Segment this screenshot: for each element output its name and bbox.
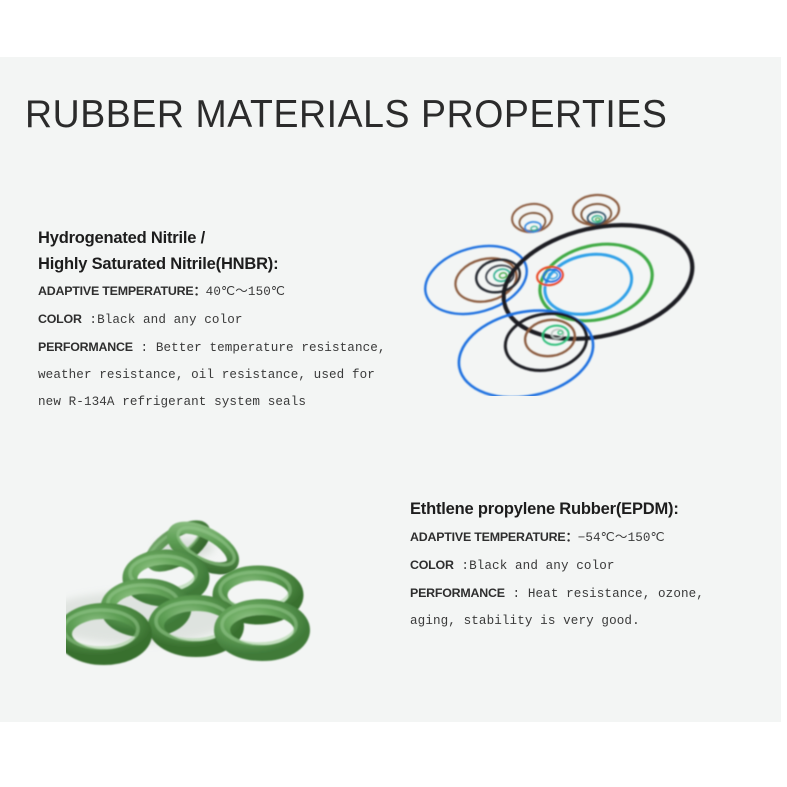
material-block-hnbr: Hydrogenated Nitrile / Highly Saturated … <box>38 226 386 416</box>
epdm-temperature-value: −54℃～150℃ <box>578 531 665 545</box>
epdm-color-value: :Black and any color <box>454 559 615 573</box>
epdm-performance-label: PERFORMANCE <box>410 586 505 600</box>
epdm-row-performance: PERFORMANCE : Heat resistance, ozone, <box>410 580 704 608</box>
epdm-row-temperature: ADAPTIVE TEMPERATURE：−54℃～150℃ <box>410 524 704 552</box>
hnbr-heading-line1: Hydrogenated Nitrile / <box>38 226 386 250</box>
hnbr-heading-line2: Highly Saturated Nitrile(HNBR): <box>38 252 386 276</box>
epdm-color-label: COLOR <box>410 558 454 572</box>
material-block-epdm: Ethtlene propylene Rubber(EPDM): ADAPTIV… <box>410 497 704 635</box>
hnbr-color-label: COLOR <box>38 312 82 326</box>
hnbr-performance-value: : Better temperature resistance, <box>133 341 386 355</box>
hnbr-temperature-value: 40℃～150℃ <box>206 285 285 299</box>
hnbr-performance-label: PERFORMANCE <box>38 340 133 354</box>
green-o-rings-photo <box>66 468 326 673</box>
page-root: RUBBER MATERIALS PROPERTIES Hydrogenated… <box>0 0 787 787</box>
hnbr-row-performance: PERFORMANCE : Better temperature resista… <box>38 334 386 362</box>
epdm-row-color: COLOR :Black and any color <box>410 552 704 580</box>
hnbr-temperature-label: ADAPTIVE TEMPERATURE： <box>38 284 206 298</box>
epdm-performance-value: : Heat resistance, ozone, <box>505 587 704 601</box>
epdm-performance-line2: aging, stability is very good. <box>410 608 704 635</box>
hnbr-performance-line2: weather resistance, oil resistance, used… <box>38 362 386 389</box>
hnbr-row-temperature: ADAPTIVE TEMPERATURE：40℃～150℃ <box>38 278 386 306</box>
assorted-o-rings-photo <box>398 176 738 396</box>
hnbr-performance-line3: new R-134A refrigerant system seals <box>38 389 386 416</box>
hnbr-row-color: COLOR :Black and any color <box>38 306 386 334</box>
epdm-temperature-label: ADAPTIVE TEMPERATURE： <box>410 530 578 544</box>
epdm-heading: Ethtlene propylene Rubber(EPDM): <box>410 497 704 521</box>
page-title: RUBBER MATERIALS PROPERTIES <box>25 93 667 137</box>
hnbr-color-value: :Black and any color <box>82 313 243 327</box>
